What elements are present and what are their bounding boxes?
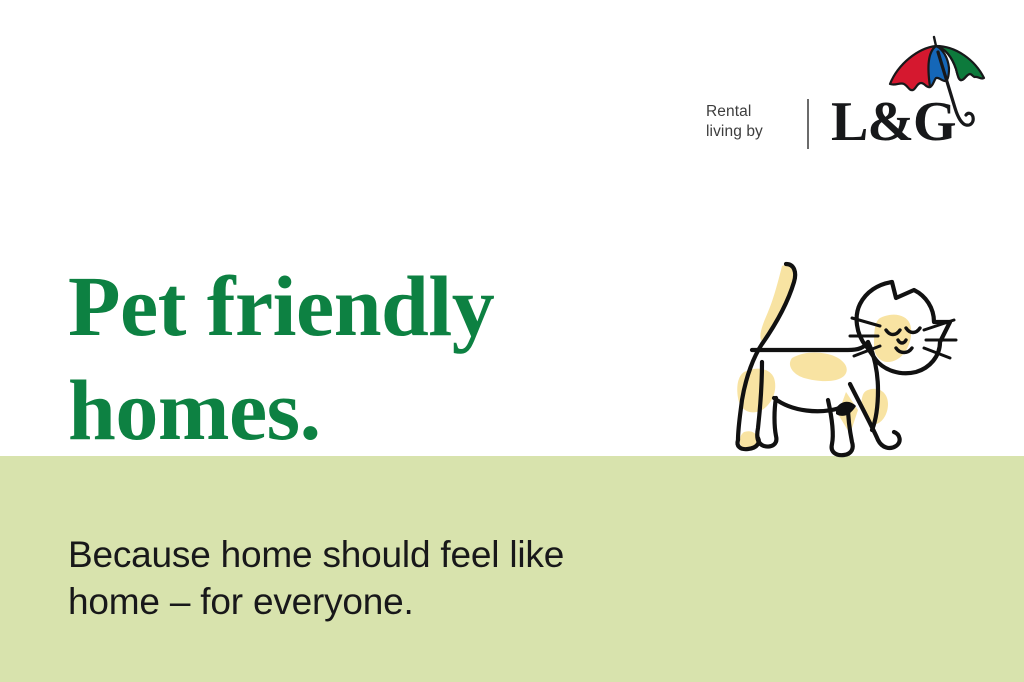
logo-strapline: Rental living by [706, 102, 798, 142]
subheadline-line-2: home – for everyone. [68, 578, 688, 625]
logo-strapline-line-1: Rental [706, 102, 798, 122]
cat-fur-patches [737, 265, 911, 449]
subheadline-line-1: Because home should feel like [68, 531, 688, 578]
headline-line-1: Pet friendly [68, 254, 708, 358]
promotional-banner: Rental living by L&G Pet fr [0, 0, 1024, 682]
headline: Pet friendly homes. [68, 254, 708, 462]
headline-line-2: homes. [68, 358, 708, 462]
cat-illustration-icon [700, 250, 964, 466]
umbrella-icon [882, 30, 992, 150]
brand-logo-lockup: Rental living by L&G [706, 30, 996, 155]
logo-vertical-divider [807, 99, 809, 149]
logo-strapline-line-2: living by [706, 122, 798, 142]
subheadline: Because home should feel like home – for… [68, 531, 688, 625]
